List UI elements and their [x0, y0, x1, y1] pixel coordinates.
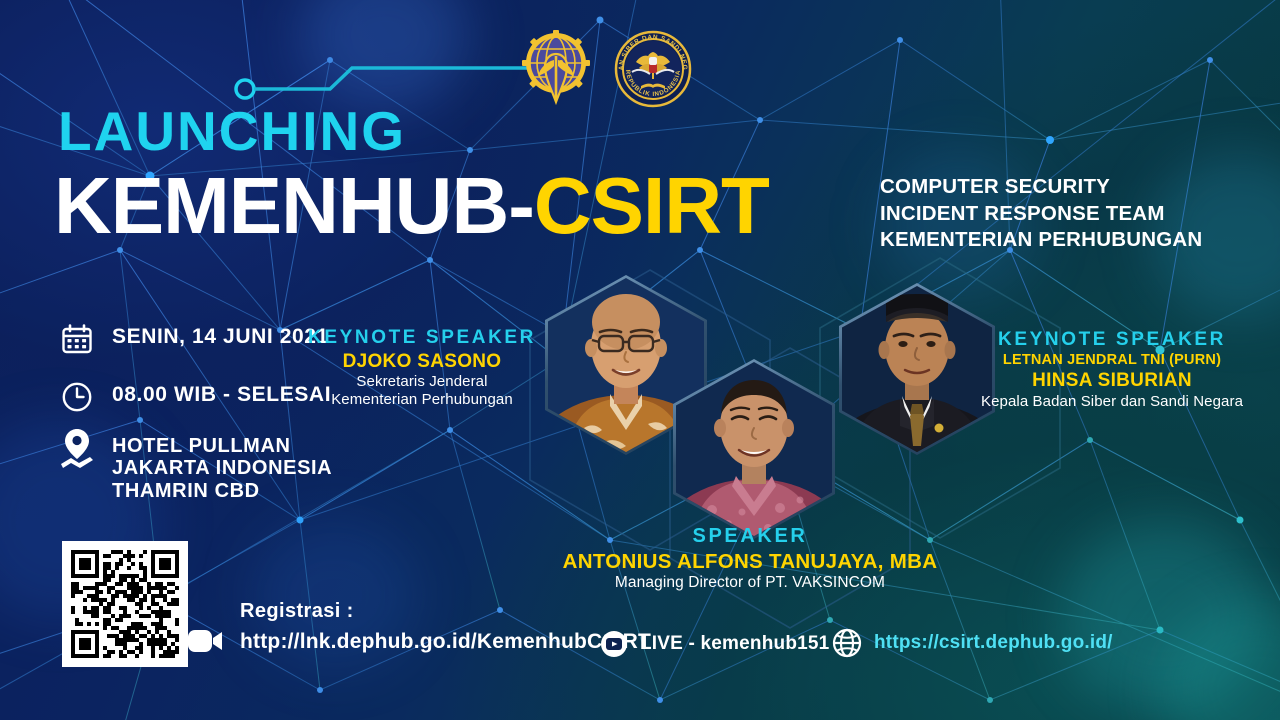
calendar-icon [60, 322, 94, 356]
globe-icon [832, 628, 862, 658]
speaker-role: KEYNOTE SPEAKER [296, 326, 548, 350]
speaker-name: ANTONIUS ALFONS TANUJAYA, MBA [560, 549, 940, 574]
website-url-text: https://csirt.dephub.go.id/ [874, 632, 1113, 654]
speaker-role: SPEAKER [560, 524, 940, 549]
event-venue-row: HOTEL PULLMAN JAKARTA INDONESIA THAMRIN … [60, 432, 332, 502]
title-main-yellow: CSIRT [534, 161, 769, 250]
speaker-rank: LETNAN JENDRAL TNI (PURN) [962, 352, 1262, 370]
qr-code[interactable] [62, 541, 188, 667]
event-date-row: SENIN, 14 JUNI 2021 [60, 322, 329, 356]
venue-line-2: JAKARTA INDONESIA [112, 457, 332, 479]
youtube-play-icon [600, 630, 628, 658]
speaker-caption-hinsa-siburian: KEYNOTE SPEAKER LETNAN JENDRAL TNI (PURN… [962, 328, 1262, 411]
event-venue-text: HOTEL PULLMAN JAKARTA INDONESIA THAMRIN … [112, 432, 332, 502]
speaker-desc-line-1: Managing Director of PT. VAKSINCOM [560, 574, 940, 593]
event-time-row: 08.00 WIB - SELESAI [60, 380, 331, 414]
venue-line-1: HOTEL PULLMAN [112, 435, 332, 457]
speaker-caption-antonius-alfons-tanujaya: SPEAKER ANTONIUS ALFONS TANUJAYA, MBA Ma… [560, 524, 940, 593]
poster-root: BADAN SIBER DAN SANDI NEGARA REPUBLIK IN… [0, 0, 1280, 720]
bssn-logo: BADAN SIBER DAN SANDI NEGARA REPUBLIK IN… [614, 30, 692, 108]
venue-line-3: THAMRIN CBD [112, 480, 332, 502]
speaker-desc-line-1: Sekretaris Jenderal [296, 373, 548, 391]
live-stream-link[interactable]: LIVE - kemenhub151 [600, 630, 829, 658]
speaker-desc-line-1: Kepala Badan Siber dan Sandi Negara [962, 393, 1262, 411]
logo-group: BADAN SIBER DAN SANDI NEGARA REPUBLIK IN… [520, 30, 692, 108]
video-camera-icon [188, 628, 222, 654]
title-main-white: KEMENHUB- [54, 161, 534, 250]
speaker-name: DJOKO SASONO [296, 350, 548, 373]
live-stream-text: LIVE - kemenhub151 [640, 633, 829, 655]
page-title: KEMENHUB-CSIRT [54, 166, 769, 246]
eyebrow-launching: LAUNCHING [58, 104, 406, 159]
kemenhub-logo [520, 30, 592, 108]
speaker-name: HINSA SIBURIAN [962, 369, 1262, 392]
speaker-desc-line-2: Kementerian Perhubungan [296, 391, 548, 409]
speaker-photo-antonius-alfons-tanujaya [676, 362, 832, 536]
speaker-role: KEYNOTE SPEAKER [962, 328, 1262, 352]
website-link[interactable]: https://csirt.dephub.go.id/ [832, 628, 1113, 658]
clock-icon [60, 380, 94, 414]
location-pin-icon [60, 432, 94, 466]
registration-label: Registrasi : [240, 600, 354, 623]
subtitle-line-2: INCIDENT RESPONSE TEAM [880, 201, 1202, 228]
subtitle-line-1: COMPUTER SECURITY [880, 174, 1202, 201]
speaker-caption-djoko-sasono: KEYNOTE SPEAKER DJOKO SASONO Sekretaris … [296, 326, 548, 409]
registration-url[interactable]: http://lnk.dephub.go.id/KemenhubCSIRT [240, 630, 651, 654]
title-subtitle: COMPUTER SECURITY INCIDENT RESPONSE TEAM… [880, 174, 1202, 254]
